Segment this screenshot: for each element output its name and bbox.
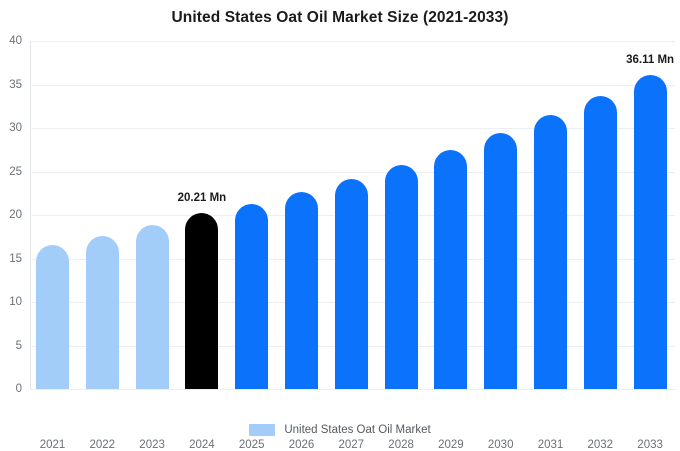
bar-2025[interactable]	[235, 204, 268, 389]
gridline	[30, 172, 675, 173]
gridline	[30, 85, 675, 86]
x-axis-tick-label: 2023	[139, 439, 165, 451]
y-axis-tick-label: 35	[9, 79, 22, 91]
bar-2027[interactable]	[335, 179, 368, 389]
legend-label: United States Oat Oil Market	[284, 424, 430, 436]
x-axis-tick-label: 2024	[189, 439, 215, 451]
y-axis-tick-label: 30	[9, 122, 22, 134]
bar-chart: United States Oat Oil Market Size (2021-…	[0, 0, 680, 450]
bar-2026[interactable]	[285, 192, 318, 389]
bar-2028[interactable]	[385, 165, 418, 389]
x-axis-tick-label: 2030	[488, 439, 514, 451]
legend-swatch	[249, 424, 275, 436]
gridline	[30, 128, 675, 129]
bar-2031[interactable]	[534, 115, 567, 389]
chart-title: United States Oat Oil Market Size (2021-…	[0, 9, 680, 27]
plot-area: 0510152025303540 20212022202320242025202…	[30, 41, 675, 389]
y-axis-tick-label: 15	[9, 253, 22, 265]
y-axis-tick-label: 10	[9, 296, 22, 308]
y-axis-tick-label: 40	[9, 35, 22, 47]
x-axis-tick-label: 2028	[388, 439, 414, 451]
x-axis-tick-label: 2027	[339, 439, 365, 451]
x-axis-tick-label: 2022	[90, 439, 116, 451]
bar-2030[interactable]	[484, 133, 517, 389]
bar-2033[interactable]	[634, 75, 667, 389]
y-axis-tick-label: 25	[9, 166, 22, 178]
data-label-2033: 36.11 Mn	[626, 54, 674, 66]
chart-legend: United States Oat Oil Market	[0, 424, 680, 436]
x-axis-tick-label: 2033	[637, 439, 663, 451]
x-axis-tick-label: 2021	[40, 439, 66, 451]
x-axis-tick-label: 2032	[588, 439, 614, 451]
bar-2023[interactable]	[136, 225, 169, 389]
y-axis-tick-label: 20	[9, 209, 22, 221]
y-axis-tick-label: 5	[16, 340, 22, 352]
x-axis-tick-label: 2029	[438, 439, 464, 451]
bar-2032[interactable]	[584, 96, 617, 389]
data-label-2024: 20.21 Mn	[178, 192, 227, 204]
x-axis-tick-label: 2026	[289, 439, 315, 451]
bar-2021[interactable]	[36, 245, 69, 389]
bar-2029[interactable]	[434, 150, 467, 389]
y-axis-tick-label: 0	[16, 383, 22, 395]
bar-2024[interactable]	[185, 213, 218, 389]
x-axis-tick-label: 2025	[239, 439, 265, 451]
x-axis-tick-label: 2031	[538, 439, 564, 451]
gridline	[30, 389, 675, 390]
gridline	[30, 41, 675, 42]
bar-2022[interactable]	[86, 236, 119, 389]
